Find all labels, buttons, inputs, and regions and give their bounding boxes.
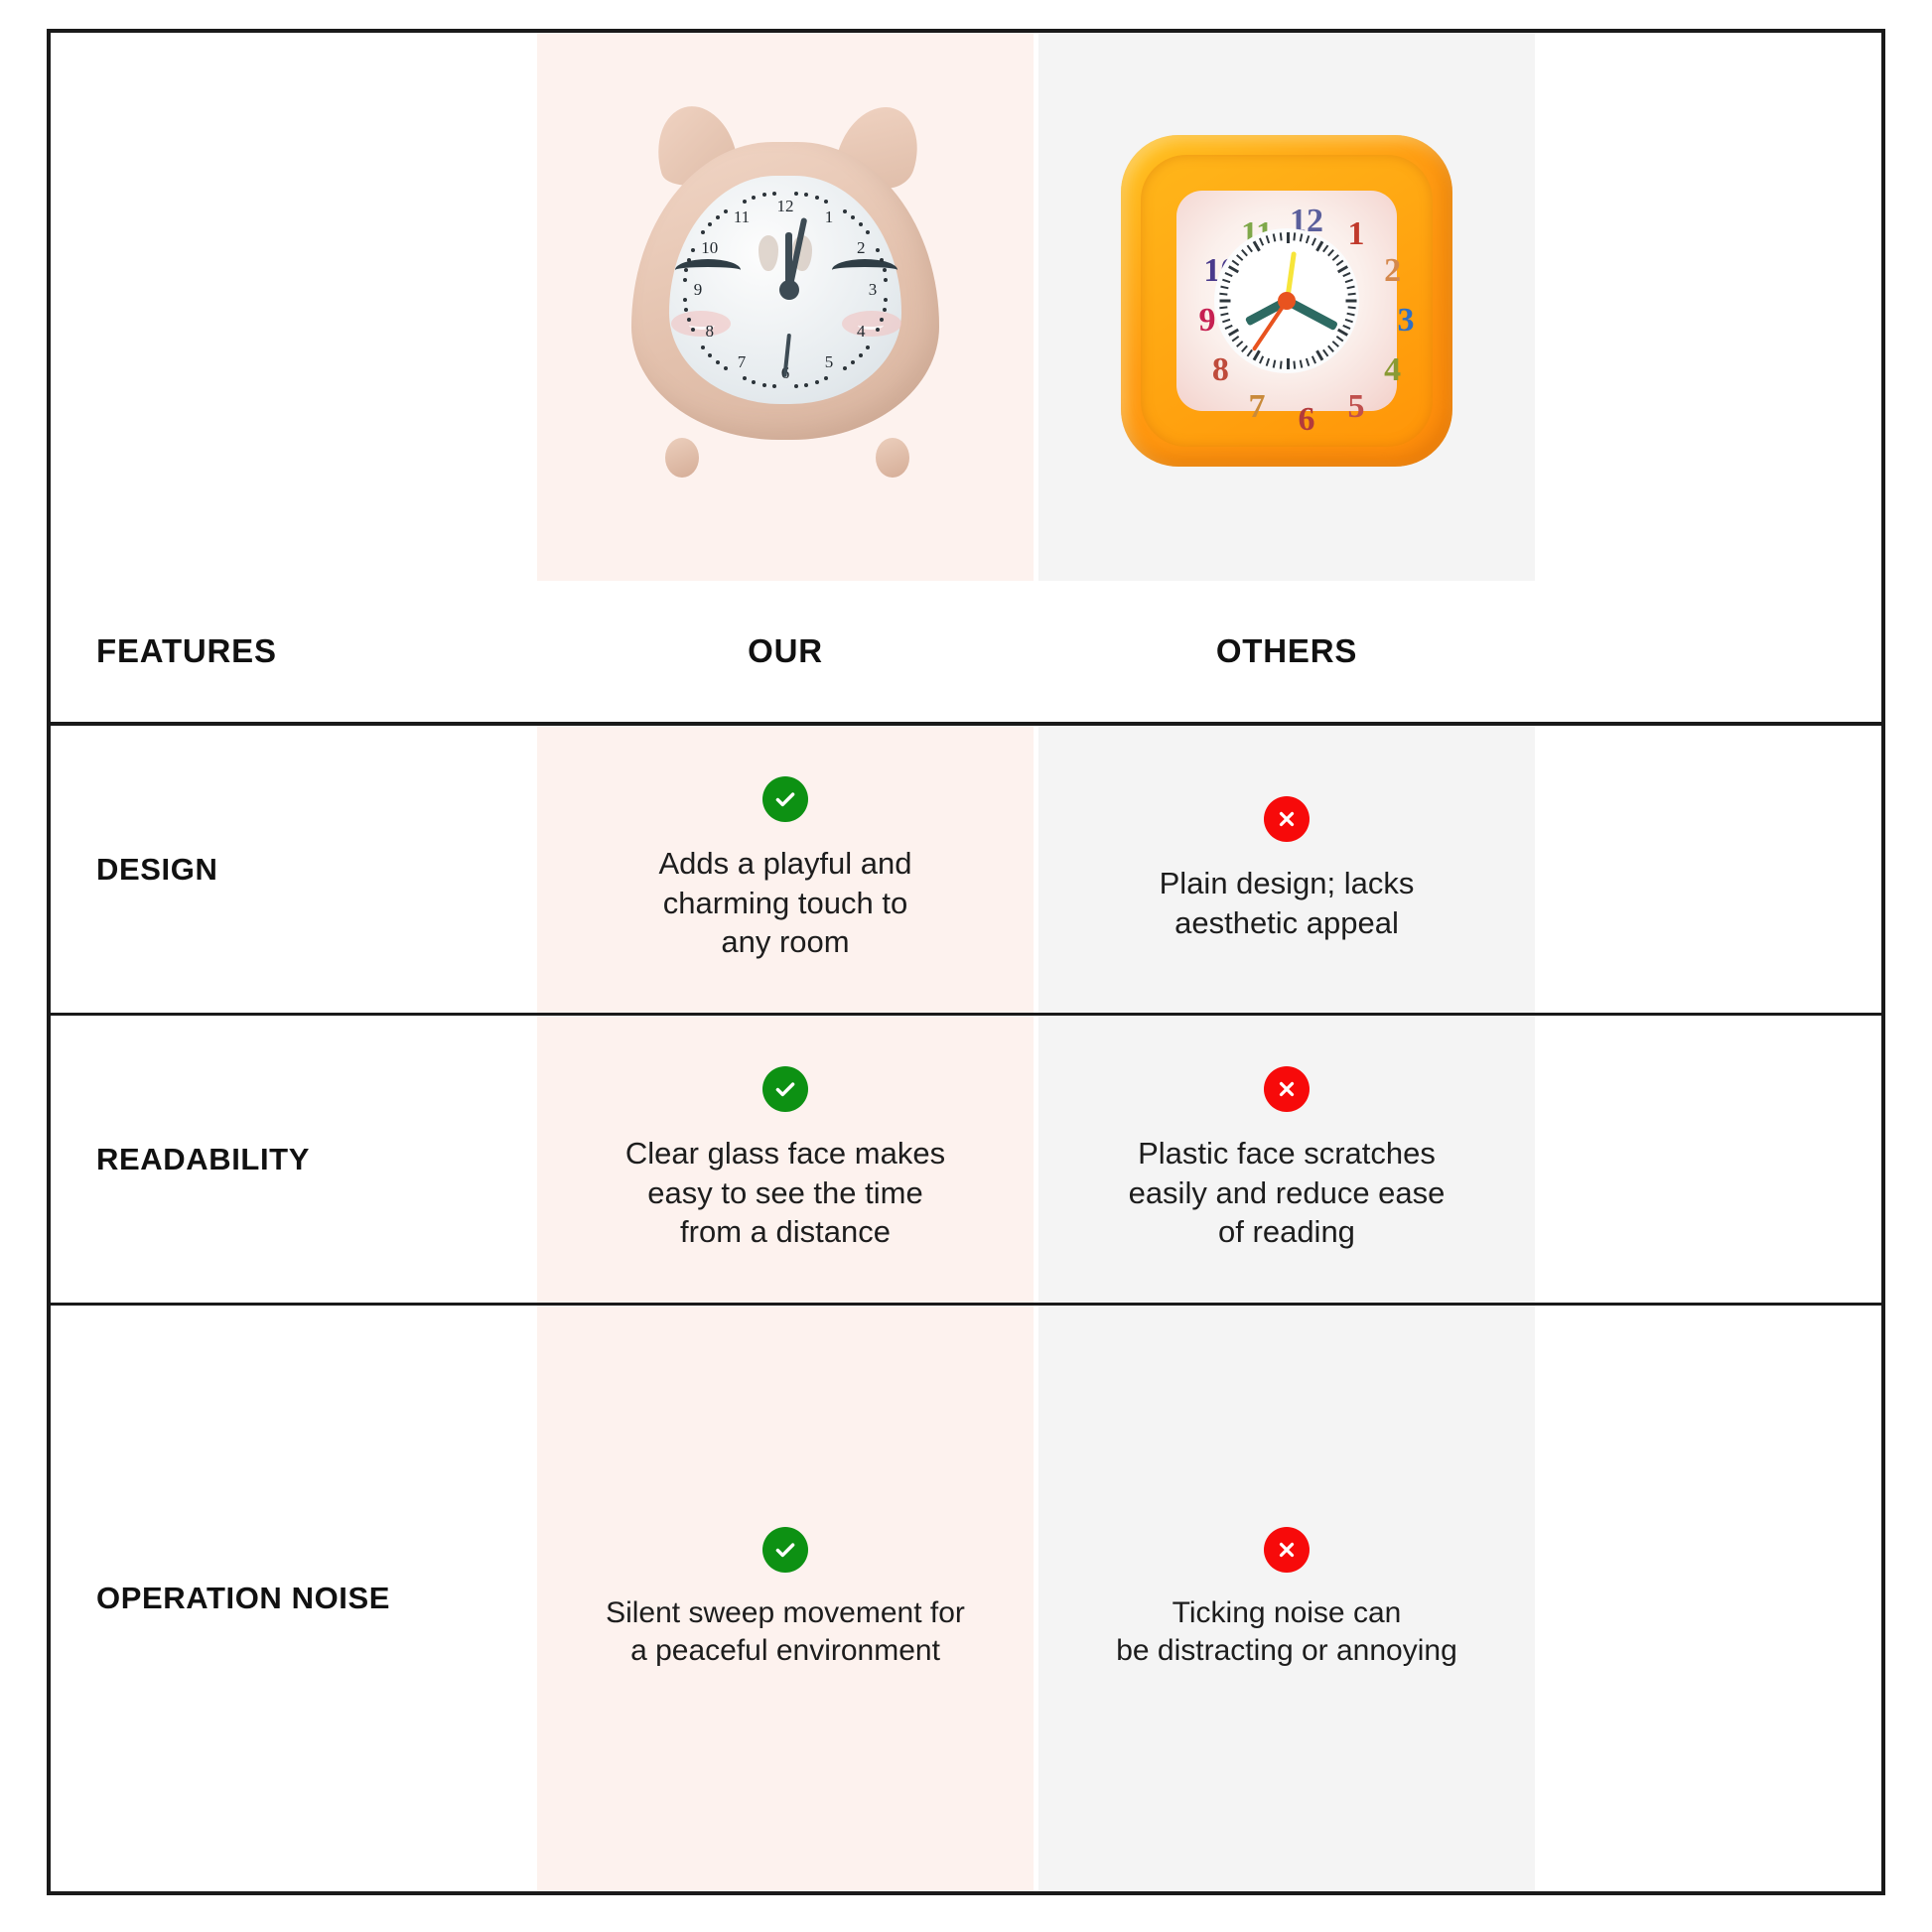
- comparison-table: 121234567891011: [47, 29, 1885, 1895]
- cat-clock-tick-dot: [724, 209, 728, 213]
- square-clock-tick: [1322, 349, 1328, 357]
- cat-clock-tick-dot: [884, 298, 888, 302]
- square-clock-tick: [1241, 249, 1248, 256]
- check-icon: [762, 776, 808, 822]
- square-clock-tick: [1332, 254, 1339, 261]
- cat-clock-tick-dot: [708, 353, 712, 357]
- others-cell-text: Plastic face scratches easily and reduce…: [1129, 1134, 1446, 1252]
- square-clock-numeral: 7: [1249, 388, 1266, 426]
- square-clock-tick: [1348, 293, 1356, 296]
- cat-clock-numeral: 10: [701, 238, 718, 258]
- cat-clock-tick-dot: [859, 222, 863, 226]
- square-clock-tick: [1337, 329, 1348, 337]
- comparison-sheet: 121234567891011: [0, 0, 1932, 1932]
- cat-clock-numeral: 12: [777, 197, 794, 216]
- cat-clock-tick-dot: [772, 384, 776, 388]
- cat-clock-tick-dot: [876, 248, 880, 252]
- square-clock-tick: [1287, 358, 1290, 369]
- check-icon: [762, 1066, 808, 1112]
- square-clock-tick: [1300, 233, 1304, 241]
- cat-clock-tick-dot: [762, 193, 766, 197]
- our-cell-readability: Clear glass face makes easy to see the t…: [537, 1016, 1034, 1303]
- feature-cell-readability: READABILITY: [51, 1016, 537, 1303]
- others-cell-text: Ticking noise can be distracting or anno…: [1116, 1594, 1457, 1671]
- cat-clock-tick-dot: [804, 383, 808, 387]
- cat-clock-tick-dot: [804, 193, 808, 197]
- square-clock-numeral: 9: [1199, 302, 1216, 340]
- square-clock-tick: [1222, 279, 1230, 283]
- check-icon: [762, 1527, 808, 1573]
- feature-label: DESIGN: [96, 852, 217, 888]
- square-clock-tick: [1232, 260, 1240, 266]
- square-clock-tick: [1259, 355, 1264, 363]
- square-clock-tick: [1336, 336, 1344, 342]
- cat-clock-tick-dot: [824, 376, 828, 380]
- cat-clock-numeral: 4: [857, 322, 866, 342]
- cat-clock-tick-dot: [691, 248, 695, 252]
- square-clock-tick: [1306, 235, 1310, 243]
- square-clock-tick: [1327, 345, 1334, 352]
- square-clock-tick: [1247, 245, 1253, 253]
- our-cell-text: Clear glass face makes easy to see the t…: [625, 1134, 945, 1252]
- our-product-image: 121234567891011: [537, 33, 1034, 581]
- cat-clock-numeral: 9: [694, 280, 703, 300]
- others-cell-operation-noise: Ticking noise can be distracting or anno…: [1038, 1306, 1535, 1891]
- cat-clock-tick-dot: [851, 215, 855, 219]
- square-clock-tick: [1236, 341, 1243, 347]
- row-tail-spacer: [1535, 1306, 1881, 1891]
- cat-clock-numeral: 2: [857, 238, 866, 258]
- cross-icon: [1264, 1527, 1310, 1573]
- cat-clock-numeral: 7: [738, 352, 747, 372]
- cat-clock-tick-dot: [859, 353, 863, 357]
- cat-clock-tick-dot: [866, 230, 870, 234]
- square-clock-tick: [1225, 325, 1233, 330]
- cat-clock-tick-dot: [683, 278, 687, 282]
- cross-icon: [1264, 1066, 1310, 1112]
- square-clock-tick: [1300, 359, 1304, 367]
- cross-icon: [1264, 796, 1310, 842]
- row-tail-spacer: [1535, 1016, 1881, 1303]
- square-clock-inner-frame: 121234567891011: [1141, 155, 1433, 447]
- cat-clock-tick-dot: [752, 196, 756, 200]
- square-clock-tick: [1247, 349, 1253, 357]
- square-clock-tick-ring: [1214, 228, 1359, 373]
- cat-clock-tick-dot: [851, 360, 855, 364]
- square-clock-tick: [1273, 359, 1277, 367]
- cat-clock-tick-dot: [743, 200, 747, 204]
- square-clock-tick: [1345, 279, 1353, 283]
- cat-clock-tick-dot: [884, 278, 888, 282]
- cat-clock-tick-dot: [687, 318, 691, 322]
- square-clock-tick: [1219, 306, 1227, 309]
- cat-clock-tick-dot: [708, 222, 712, 226]
- cat-clock-tick-dot: [691, 328, 695, 332]
- feature-label: OPERATION NOISE: [96, 1581, 390, 1616]
- cat-clock-tick-dot: [752, 380, 756, 384]
- square-clock-tick: [1342, 272, 1350, 277]
- square-clock-tick: [1311, 238, 1316, 246]
- square-clock-tick: [1311, 355, 1316, 363]
- square-clock-tick: [1266, 235, 1270, 243]
- square-clock-tick: [1322, 245, 1328, 253]
- square-clock-numeral: 5: [1348, 388, 1365, 426]
- cat-clock-tick-dot: [843, 209, 847, 213]
- feature-cell-design: DESIGN: [51, 726, 537, 1013]
- cat-clock-tick-dot: [724, 366, 728, 370]
- features-header-label: FEATURES: [96, 632, 277, 670]
- cat-clock-numeral: 1: [825, 207, 834, 227]
- cat-clock-numeral: 3: [869, 280, 878, 300]
- product-image-band: 121234567891011: [51, 33, 1881, 581]
- square-clock-tick: [1327, 249, 1334, 256]
- square-clock-numeral: 6: [1299, 401, 1315, 439]
- cat-clock-tick-dot: [876, 328, 880, 332]
- square-clock-numeral: 4: [1384, 351, 1401, 389]
- others-cell-text: Plain design; lacks aesthetic appeal: [1160, 864, 1415, 942]
- square-clock-numeral: 3: [1398, 302, 1415, 340]
- cat-clock-second-hand: [782, 334, 791, 377]
- our-cell-design: Adds a playful and charming touch to any…: [537, 726, 1034, 1013]
- cat-clock-hub: [779, 280, 799, 300]
- square-clock-tick: [1346, 313, 1354, 317]
- cat-clock-numeral: 8: [706, 322, 715, 342]
- header-cell-our: OUR: [537, 632, 1034, 670]
- cat-clock-dial: 121234567891011: [669, 176, 901, 404]
- square-clock-tick: [1293, 361, 1296, 369]
- cat-clock-tick-dot: [716, 215, 720, 219]
- cat-clock-tick-dot: [794, 384, 798, 388]
- square-clock-tick: [1220, 313, 1228, 317]
- media-tail-spacer: [1535, 33, 1881, 581]
- header-cell-features: FEATURES: [51, 632, 537, 670]
- square-clock-tick: [1280, 232, 1283, 240]
- square-clock-tick: [1220, 286, 1228, 290]
- cat-clock-tick-dot: [880, 258, 884, 262]
- cat-clock-tick-dot: [716, 360, 720, 364]
- others-header-label: OTHERS: [1216, 632, 1357, 670]
- media-spacer: [51, 33, 537, 581]
- square-clock-tick: [1332, 341, 1339, 347]
- cat-clock-tick-dot: [880, 318, 884, 322]
- cat-clock-tick-dot: [843, 366, 847, 370]
- cat-clock-tick-dot: [883, 308, 887, 312]
- cat-clock-numeral: 5: [825, 352, 834, 372]
- square-clock-tick: [1241, 345, 1248, 352]
- square-clock-numeral: 8: [1212, 351, 1229, 389]
- square-clock-tick: [1266, 358, 1270, 366]
- square-clock-tick: [1222, 319, 1230, 323]
- square-clock-tick: [1306, 358, 1310, 366]
- our-cell-operation-noise: Silent sweep movement for a peaceful env…: [537, 1306, 1034, 1891]
- square-clock-tick: [1232, 336, 1240, 342]
- square-clock-tick: [1293, 232, 1296, 240]
- others-product-image: 121234567891011: [1038, 33, 1535, 581]
- square-clock-tick: [1219, 293, 1227, 296]
- our-header-label: OUR: [748, 632, 823, 670]
- cat-clock-tick-dot: [684, 308, 688, 312]
- square-clock-tick: [1225, 272, 1233, 277]
- cat-clock-tick-dot: [701, 345, 705, 349]
- square-clock-tick: [1346, 300, 1357, 303]
- row-tail-spacer: [1535, 726, 1881, 1013]
- our-cell-text: Adds a playful and charming touch to any…: [658, 844, 911, 962]
- square-clock-tick: [1348, 306, 1356, 309]
- cat-clock-numeral: 11: [734, 207, 750, 227]
- cat-clock-foot-left: [665, 438, 699, 478]
- cat-clock-tick-dot: [824, 200, 828, 204]
- square-clock-tick: [1336, 260, 1344, 266]
- square-clock-hub: [1278, 292, 1296, 310]
- square-clock-tick: [1253, 240, 1261, 251]
- square-clock-tick: [1228, 265, 1239, 273]
- table-row: DESIGN Adds a playful and charming touch…: [51, 726, 1881, 1016]
- cat-clock-tick-dot: [701, 230, 705, 234]
- square-clock-tick: [1287, 232, 1290, 243]
- square-clock-tick: [1346, 286, 1354, 290]
- square-clock-tick: [1345, 319, 1353, 323]
- square-clock-tick: [1220, 300, 1231, 303]
- square-clock-numeral: 1: [1348, 215, 1365, 253]
- square-alarm-clock-illustration: 121234567891011: [1121, 135, 1452, 467]
- cat-clock-foot-right: [876, 438, 909, 478]
- cat-clock-tick-dot: [883, 268, 887, 272]
- square-clock-numeral: 2: [1384, 252, 1401, 290]
- table-header-row: FEATURES OUR OTHERS: [51, 581, 1881, 726]
- square-clock-tick: [1280, 361, 1283, 369]
- cat-clock-tick-dot: [683, 298, 687, 302]
- others-cell-readability: Plastic face scratches easily and reduce…: [1038, 1016, 1535, 1303]
- square-clock-tick: [1236, 254, 1243, 261]
- cat-clock-tick-dot: [772, 192, 776, 196]
- square-clock-tick: [1259, 238, 1264, 246]
- cat-clock-tick-dot: [687, 258, 691, 262]
- square-clock-tick: [1342, 325, 1350, 330]
- table-row: OPERATION NOISE Silent sweep movement fo…: [51, 1306, 1881, 1891]
- header-cell-others: OTHERS: [1038, 632, 1535, 670]
- square-clock-tick: [1273, 233, 1277, 241]
- cat-clock-tick-dot: [743, 376, 747, 380]
- cat-clock-tick-dot: [815, 196, 819, 200]
- cat-alarm-clock-illustration: 121234567891011: [612, 100, 959, 478]
- our-cell-text: Silent sweep movement for a peaceful env…: [606, 1594, 965, 1671]
- table-row: READABILITY Clear glass face makes easy …: [51, 1016, 1881, 1306]
- feature-cell-operation-noise: OPERATION NOISE: [51, 1306, 537, 1891]
- feature-label: READABILITY: [96, 1142, 310, 1177]
- cat-clock-tick-dot: [762, 383, 766, 387]
- cat-clock-tick-dot: [866, 345, 870, 349]
- cat-clock-tick-dot: [794, 192, 798, 196]
- others-cell-design: Plain design; lacks aesthetic appeal: [1038, 726, 1535, 1013]
- cat-clock-tick-dot: [684, 268, 688, 272]
- cat-clock-tick-dot: [815, 380, 819, 384]
- square-clock-dial: 121234567891011: [1176, 191, 1397, 411]
